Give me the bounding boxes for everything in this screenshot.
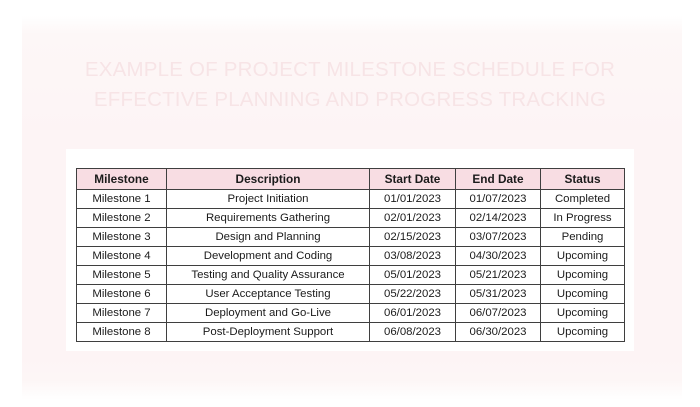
table-row: Milestone 1 Project Initiation 01/01/202… <box>77 190 625 209</box>
column-header-status: Status <box>541 169 625 190</box>
cell-description: Design and Planning <box>167 228 370 247</box>
cell-status: Upcoming <box>541 323 625 342</box>
table-row: Milestone 5 Testing and Quality Assuranc… <box>77 266 625 285</box>
column-header-start-date: Start Date <box>370 169 456 190</box>
table-body: Milestone 1 Project Initiation 01/01/202… <box>77 190 625 342</box>
cell-milestone: Milestone 3 <box>77 228 167 247</box>
cell-status: Upcoming <box>541 266 625 285</box>
cell-status: Pending <box>541 228 625 247</box>
cell-end-date: 06/07/2023 <box>456 304 541 323</box>
cell-end-date: 05/21/2023 <box>456 266 541 285</box>
cell-description: Requirements Gathering <box>167 209 370 228</box>
milestone-schedule-table: Milestone Description Start Date End Dat… <box>76 168 625 342</box>
cell-end-date: 06/30/2023 <box>456 323 541 342</box>
table-header: Milestone Description Start Date End Dat… <box>77 169 625 190</box>
column-header-end-date: End Date <box>456 169 541 190</box>
page-title-line-1: EXAMPLE OF PROJECT MILESTONE SCHEDULE FO… <box>60 55 640 85</box>
table-row: Milestone 6 User Acceptance Testing 05/2… <box>77 285 625 304</box>
cell-description: Deployment and Go-Live <box>167 304 370 323</box>
column-header-description: Description <box>167 169 370 190</box>
cell-milestone: Milestone 8 <box>77 323 167 342</box>
cell-description: Post-Deployment Support <box>167 323 370 342</box>
cell-status: Upcoming <box>541 247 625 266</box>
table-row: Milestone 7 Deployment and Go-Live 06/01… <box>77 304 625 323</box>
cell-start-date: 05/01/2023 <box>370 266 456 285</box>
cell-start-date: 06/08/2023 <box>370 323 456 342</box>
cell-status: Upcoming <box>541 285 625 304</box>
cell-end-date: 04/30/2023 <box>456 247 541 266</box>
cell-milestone: Milestone 2 <box>77 209 167 228</box>
cell-description: Project Initiation <box>167 190 370 209</box>
table-row: Milestone 8 Post-Deployment Support 06/0… <box>77 323 625 342</box>
table-header-row: Milestone Description Start Date End Dat… <box>77 169 625 190</box>
cell-start-date: 02/01/2023 <box>370 209 456 228</box>
cell-start-date: 02/15/2023 <box>370 228 456 247</box>
page-title-line-2: EFFECTIVE PLANNING AND PROGRESS TRACKING <box>60 85 640 115</box>
milestone-schedule-table-wrapper: Milestone Description Start Date End Dat… <box>76 168 624 342</box>
cell-description: Development and Coding <box>167 247 370 266</box>
cell-milestone: Milestone 5 <box>77 266 167 285</box>
cell-milestone: Milestone 4 <box>77 247 167 266</box>
cell-milestone: Milestone 1 <box>77 190 167 209</box>
column-header-milestone: Milestone <box>77 169 167 190</box>
page-title: EXAMPLE OF PROJECT MILESTONE SCHEDULE FO… <box>60 55 640 115</box>
cell-milestone: Milestone 6 <box>77 285 167 304</box>
cell-start-date: 05/22/2023 <box>370 285 456 304</box>
cell-start-date: 03/08/2023 <box>370 247 456 266</box>
cell-milestone: Milestone 7 <box>77 304 167 323</box>
cell-start-date: 06/01/2023 <box>370 304 456 323</box>
table-row: Milestone 4 Development and Coding 03/08… <box>77 247 625 266</box>
cell-status: In Progress <box>541 209 625 228</box>
cell-end-date: 03/07/2023 <box>456 228 541 247</box>
table-row: Milestone 2 Requirements Gathering 02/01… <box>77 209 625 228</box>
cell-end-date: 05/31/2023 <box>456 285 541 304</box>
cell-status: Upcoming <box>541 304 625 323</box>
cell-end-date: 02/14/2023 <box>456 209 541 228</box>
cell-end-date: 01/07/2023 <box>456 190 541 209</box>
cell-description: Testing and Quality Assurance <box>167 266 370 285</box>
cell-description: User Acceptance Testing <box>167 285 370 304</box>
table-row: Milestone 3 Design and Planning 02/15/20… <box>77 228 625 247</box>
cell-start-date: 01/01/2023 <box>370 190 456 209</box>
cell-status: Completed <box>541 190 625 209</box>
